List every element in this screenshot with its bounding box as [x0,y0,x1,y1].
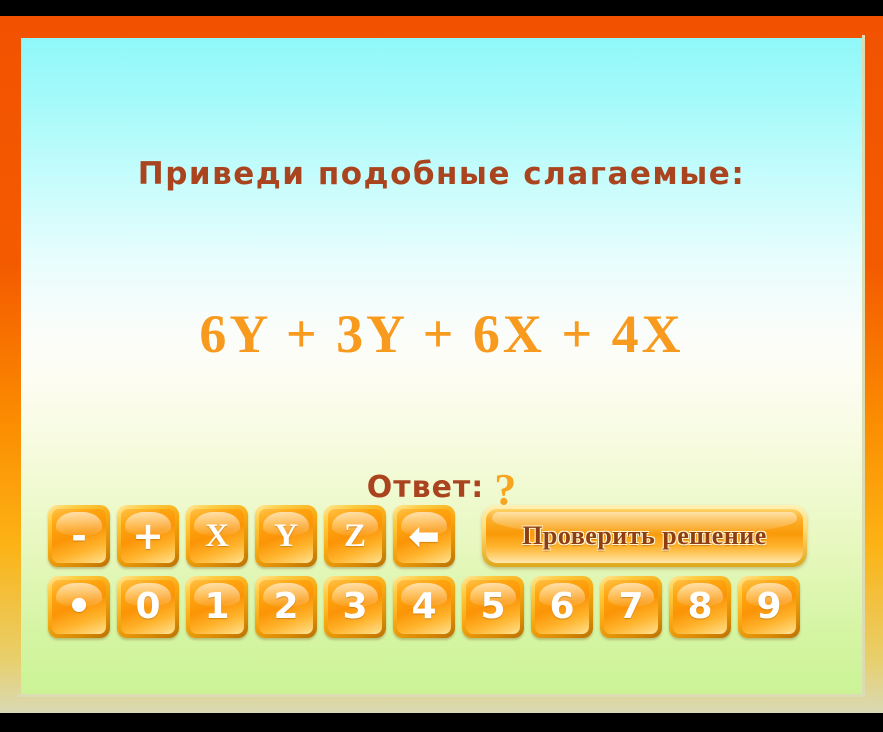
keypad: -+XYZ⬅Проверить решение •0123456789 [48,505,848,647]
key-7-label: 7 [618,589,643,625]
key-x-label: X [205,520,229,553]
key-z[interactable]: Z [324,505,386,567]
key-6-label: 6 [549,589,574,625]
key-3-label: 3 [342,589,367,625]
decorative-frame: Приведи подобные слагаемые: 6Y + 3Y + 6X… [0,16,883,713]
key-5-face: 5 [466,580,520,634]
key-dot-label: • [66,595,92,619]
key-6[interactable]: 6 [531,576,593,638]
check-solution-button[interactable]: Проверить решение [482,505,807,567]
key-4-face: 4 [397,580,451,634]
key-y-face: Y [259,509,313,563]
key-9-face: 9 [742,580,796,634]
slide-canvas: Приведи подобные слагаемые: 6Y + 3Y + 6X… [21,38,862,694]
key-dot[interactable]: • [48,576,110,638]
key-9[interactable]: 9 [738,576,800,638]
key-plus[interactable]: + [117,505,179,567]
key-0-face: 0 [121,580,175,634]
check-solution-button-label: Проверить решение [522,521,767,551]
key-3-face: 3 [328,580,382,634]
key-plus-label: + [132,517,164,555]
key-z-face: Z [328,509,382,563]
key-x[interactable]: X [186,505,248,567]
key-7[interactable]: 7 [600,576,662,638]
key-9-label: 9 [756,589,781,625]
key-8-label: 8 [687,589,712,625]
key-x-face: X [190,509,244,563]
key-y-label: Y [274,520,298,553]
key-0[interactable]: 0 [117,576,179,638]
key-plus-face: + [121,509,175,563]
key-1-face: 1 [190,580,244,634]
key-backspace[interactable]: ⬅ [393,505,455,567]
math-expression: 6Y + 3Y + 6X + 4X [21,303,862,365]
key-2-label: 2 [273,589,298,625]
key-dot-face: • [52,580,106,634]
key-1[interactable]: 1 [186,576,248,638]
key-y[interactable]: Y [255,505,317,567]
key-2[interactable]: 2 [255,576,317,638]
key-5-label: 5 [480,589,505,625]
key-4-label: 4 [411,589,436,625]
key-2-face: 2 [259,580,313,634]
answer-label: Ответ: [367,470,485,505]
key-8-face: 8 [673,580,727,634]
key-6-face: 6 [535,580,589,634]
check-solution-button-face: Проверить решение [486,509,803,563]
key-minus[interactable]: - [48,505,110,567]
key-0-label: 0 [135,589,160,625]
slide-window: Приведи подобные слагаемые: 6Y + 3Y + 6X… [0,0,883,732]
key-7-face: 7 [604,580,658,634]
key-5[interactable]: 5 [462,576,524,638]
key-z-label: Z [344,520,366,553]
key-backspace-face: ⬅ [397,509,451,563]
keypad-row-digits: •0123456789 [48,576,848,638]
key-backspace-label: ⬅ [408,519,440,553]
key-minus-face: - [52,509,106,563]
key-1-label: 1 [204,589,229,625]
key-minus-label: - [71,517,87,555]
key-8[interactable]: 8 [669,576,731,638]
page-title: Приведи подобные слагаемые: [21,156,862,192]
key-4[interactable]: 4 [393,576,455,638]
keypad-row-operators: -+XYZ⬅Проверить решение [48,505,848,567]
key-3[interactable]: 3 [324,576,386,638]
